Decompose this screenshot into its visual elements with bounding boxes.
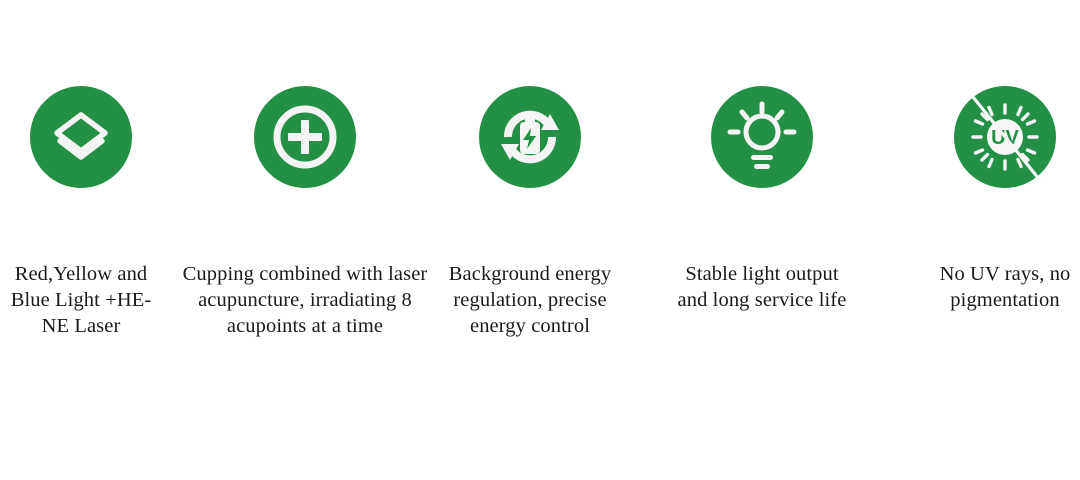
lightbulb-icon [724, 99, 800, 175]
battery-recharge-icon [490, 97, 570, 177]
plus-circle-icon [266, 98, 344, 176]
feature-label-energy: Background energy regulation, precise en… [430, 261, 630, 339]
no-uv-icon: UV [959, 91, 1051, 183]
feature-item-no-uv: UV No UV rays, no pigmentation [904, 86, 1080, 313]
feature-label-no-uv: No UV rays, no pigmentation [904, 261, 1080, 313]
layers-icon [49, 105, 113, 169]
feature-label-cupping: Cupping combined with laser acupuncture,… [181, 261, 429, 339]
feature-item-layers: Red,Yellow and Blue Light +HE-NE Laser [0, 86, 162, 339]
icon-circle-lightbulb [711, 86, 813, 188]
feature-item-energy: Background energy regulation, precise en… [444, 86, 616, 339]
icon-circle-layers [30, 86, 132, 188]
icon-circle-no-uv: UV [954, 86, 1056, 188]
features-row: Red,Yellow and Blue Light +HE-NE Laser C… [0, 0, 1080, 480]
feature-item-cupping: Cupping combined with laser acupuncture,… [181, 86, 429, 339]
icon-circle-plus [254, 86, 356, 188]
feature-item-stable-light: Stable light output and long service lif… [676, 86, 848, 313]
feature-label-layers: Red,Yellow and Blue Light +HE-NE Laser [0, 261, 162, 339]
icon-circle-battery [479, 86, 581, 188]
feature-label-stable-light: Stable light output and long service lif… [672, 261, 852, 313]
